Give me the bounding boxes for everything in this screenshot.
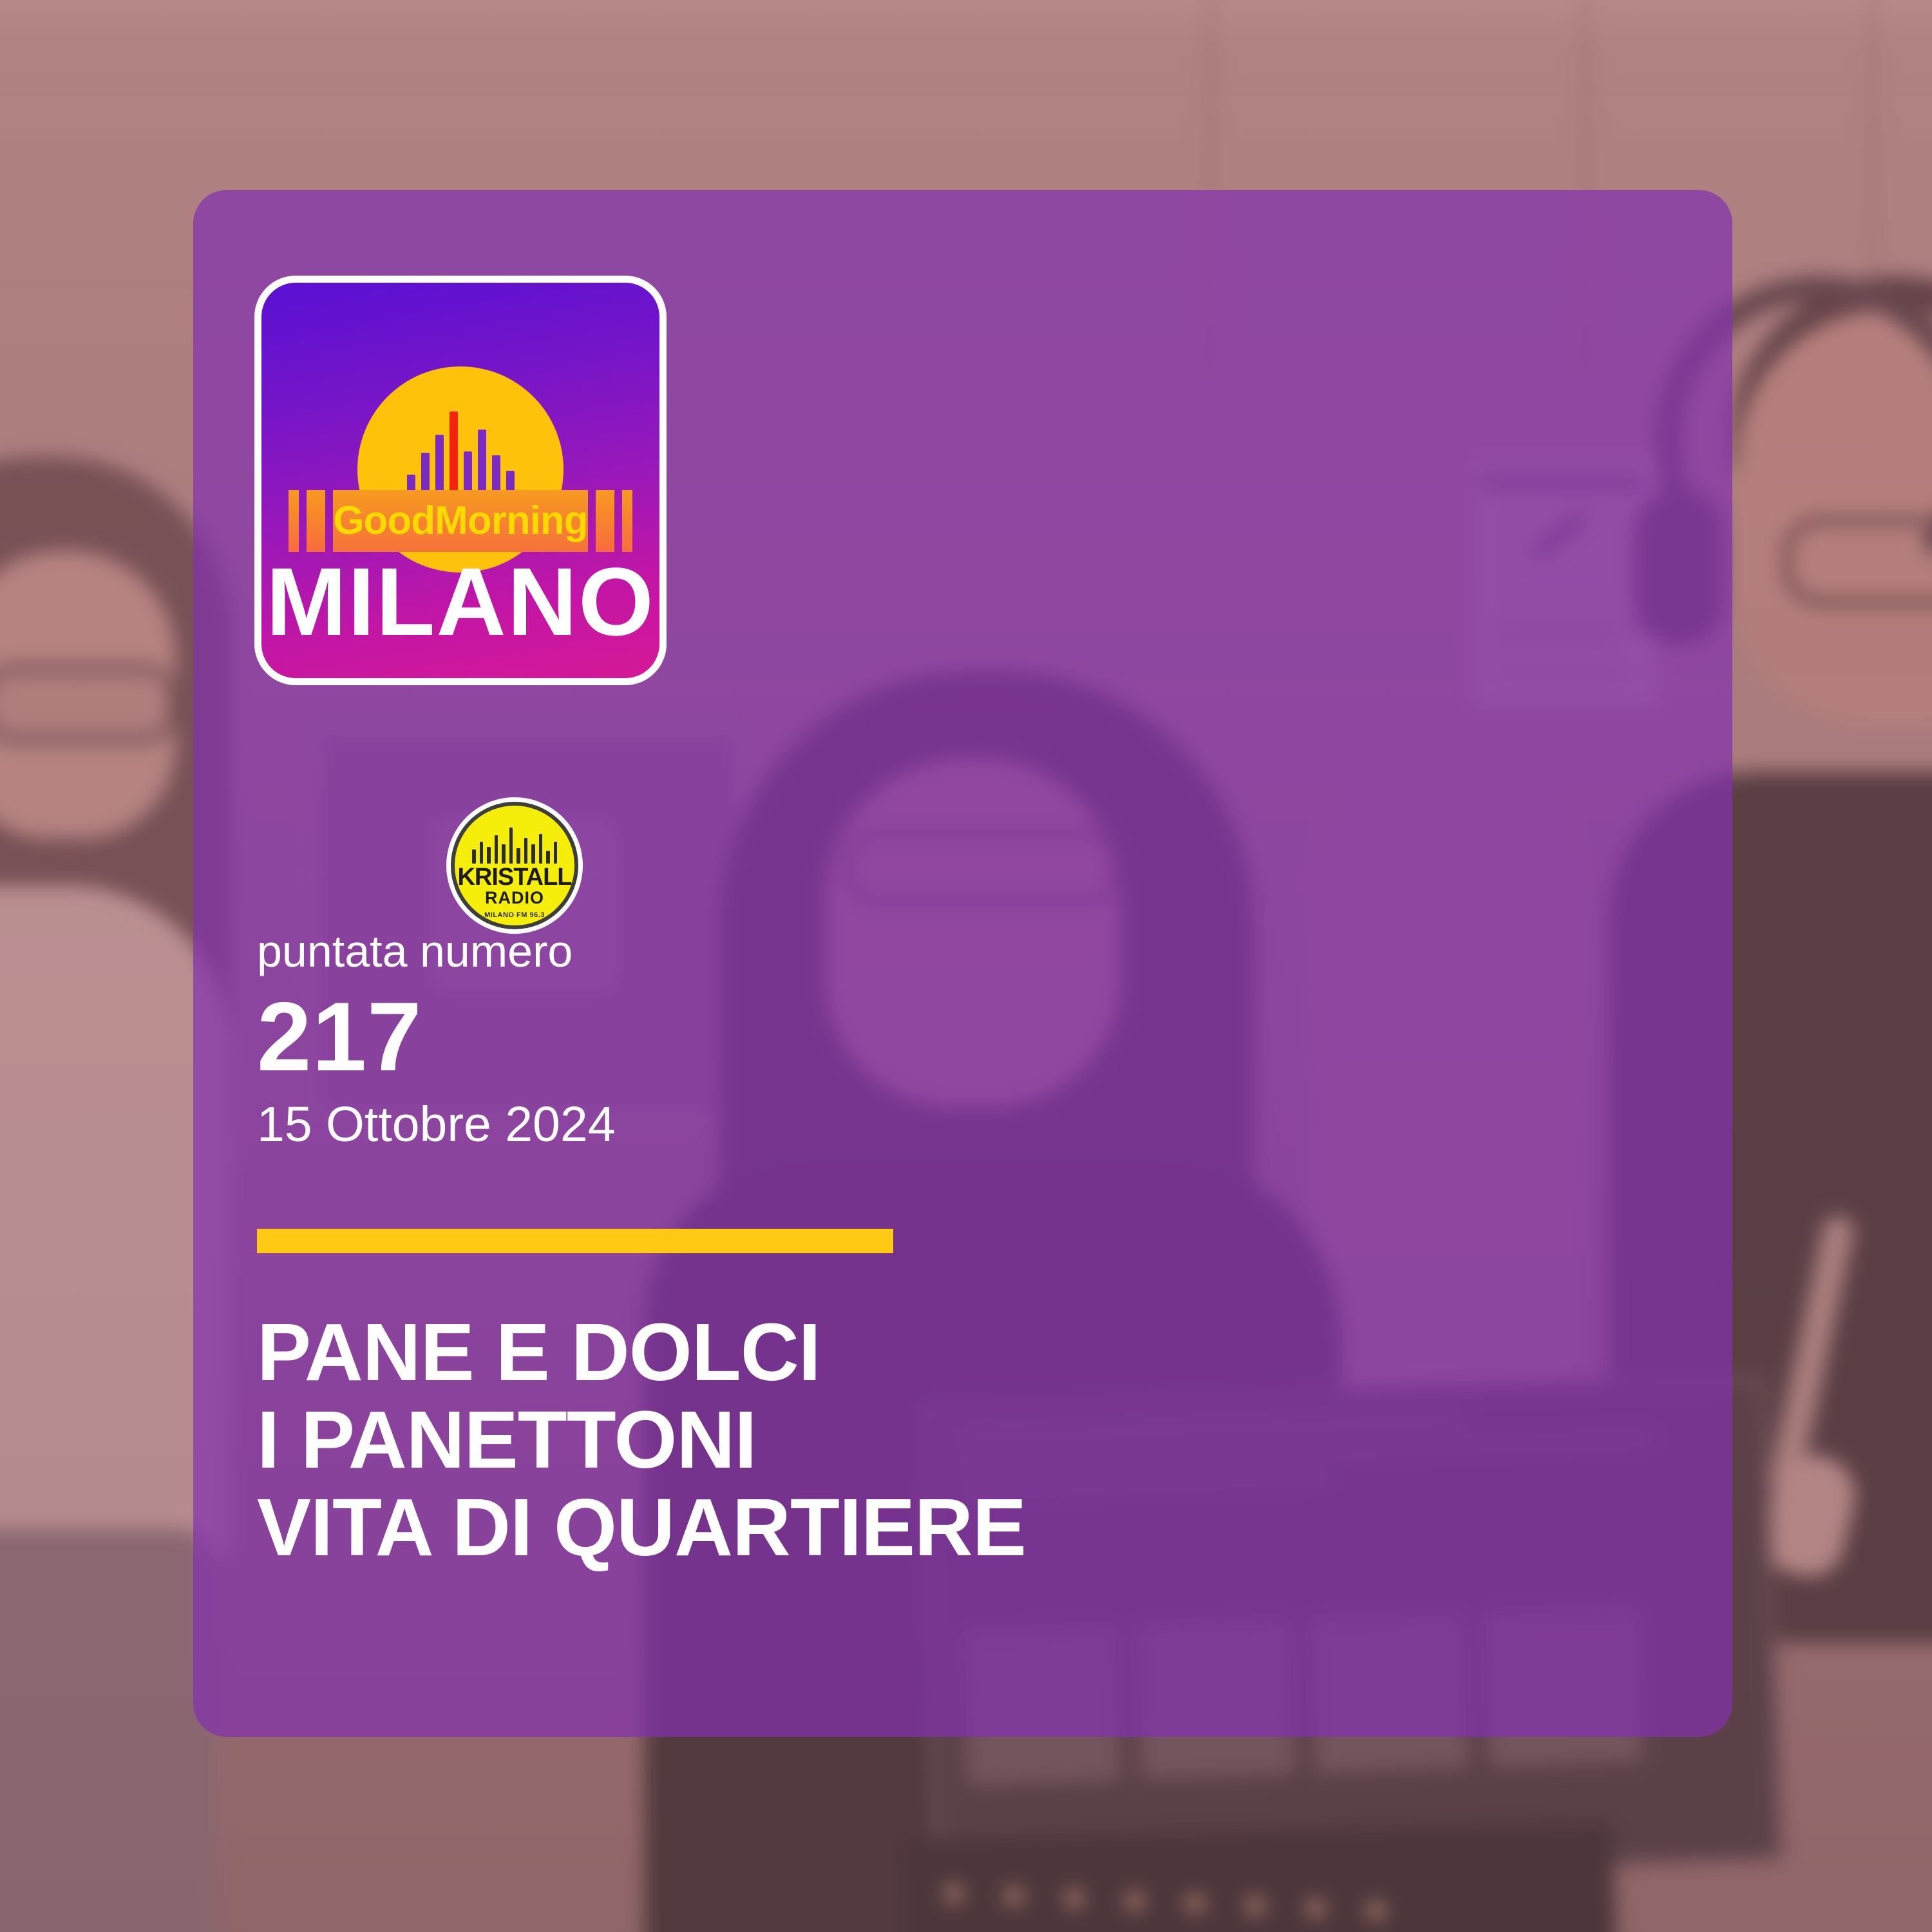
episode-number: 217 (257, 988, 616, 1086)
logo-milano-text: MILANO (261, 553, 659, 650)
episode-title: PANE E DOLCI I PANETTONI VITA DI QUARTIE… (257, 1309, 1026, 1571)
logo-tile: GoodMorning MILANO (254, 276, 667, 685)
goodmorning-milano-logo[interactable]: GoodMorning MILANO (254, 276, 667, 685)
badge-equalizer-icon (472, 825, 557, 864)
logo-goodmorning-band: GoodMorning (333, 490, 587, 552)
band-tick-icon (622, 490, 632, 552)
band-tick-icon (289, 490, 299, 552)
cover-card: GoodMorning MILANO (193, 190, 1732, 1737)
episode-meta: puntata numero 217 15 Ottobre 2024 (257, 929, 616, 1150)
logo-wordmark-band: GoodMorning (261, 490, 659, 552)
equalizer-icon (390, 405, 531, 502)
episode-title-line-3: VITA DI QUARTIERE (257, 1484, 1026, 1571)
episode-cover-artwork: GoodMorning MILANO (0, 0, 1932, 1932)
episode-title-line-1: PANE E DOLCI (257, 1309, 1026, 1396)
badge-radio-text: RADIO (455, 889, 574, 907)
kristall-radio-badge[interactable]: KRISTALL RADIO MILANO FM 96.3 (451, 802, 578, 929)
badge-kristall-text: KRISTALL (455, 865, 574, 889)
episode-date: 15 Ottobre 2024 (257, 1100, 616, 1150)
badge-frequency-text: MILANO FM 96.3 (455, 912, 574, 919)
episode-title-line-2: I PANETTONI (257, 1396, 1026, 1484)
band-tick-icon (596, 490, 614, 552)
episode-label: puntata numero (257, 929, 616, 974)
divider-rule (257, 1229, 893, 1253)
band-tick-icon (307, 490, 325, 552)
logo-goodmorning-text: GoodMorning (333, 501, 587, 541)
